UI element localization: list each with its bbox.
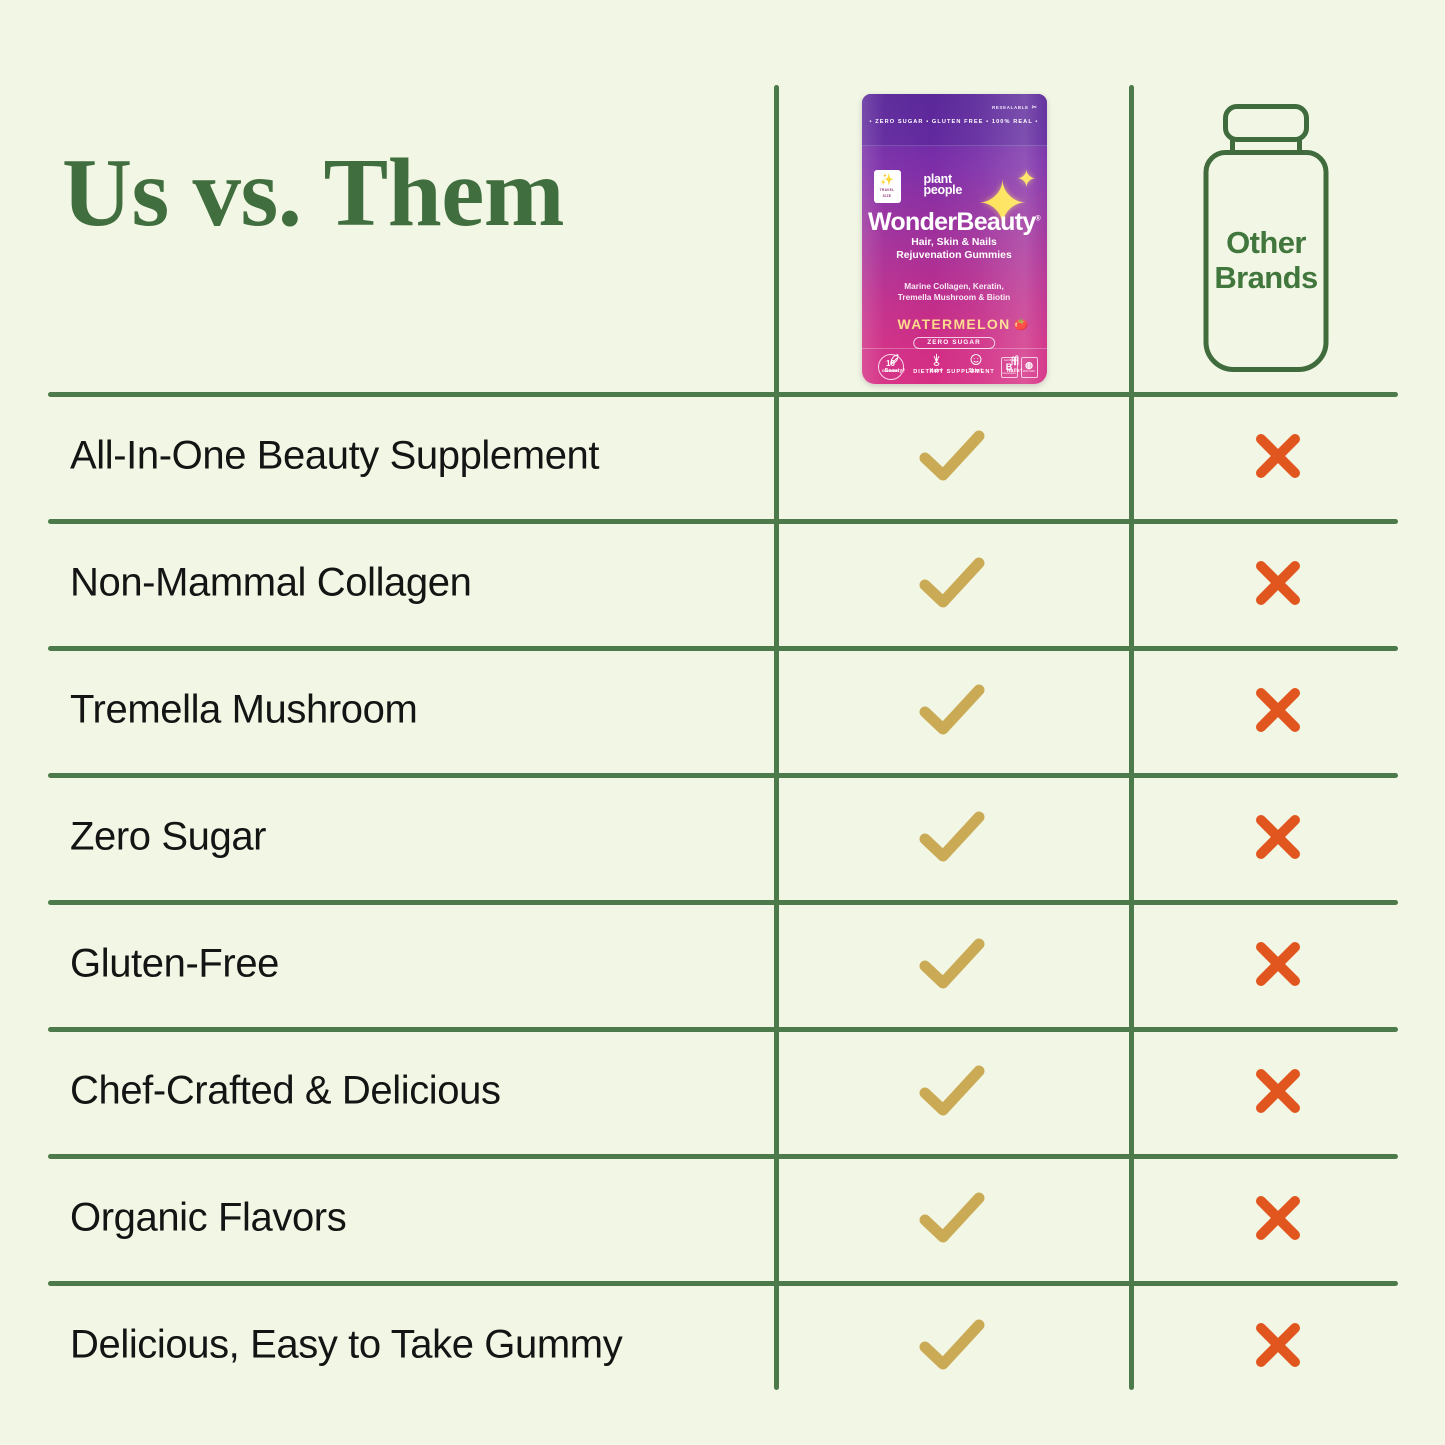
travel-size-line2: SIZE: [883, 194, 892, 198]
travel-size-icon: ✨: [882, 174, 893, 187]
feature-label: Organic Flavors: [70, 1195, 760, 1240]
check-icon: [917, 554, 987, 612]
row-divider: [48, 900, 1398, 905]
bcorp-bottom-text: Corporation: [1002, 372, 1016, 375]
cross-icon: [1252, 557, 1304, 609]
pouch-claims: • ZERO SUGAR • GLUTEN FREE • 100% REAL •: [862, 119, 1047, 125]
row-divider: [48, 1281, 1398, 1286]
feature-label: Gluten-Free: [70, 941, 760, 986]
feature-label: Zero Sugar: [70, 814, 760, 859]
cross-icon: [1252, 1192, 1304, 1244]
gummy-count-number: 10: [886, 360, 895, 369]
wonderbeauty-pouch: RESEALABLE ✂ • ZERO SUGAR • GLUTEN FREE …: [862, 94, 1047, 384]
feature-label: All-In-One Beauty Supplement: [70, 433, 760, 478]
certification-badges: Certified B Corporation ◍ NON GMO: [1001, 357, 1038, 378]
row-divider: [48, 1027, 1398, 1032]
check-icon: [917, 427, 987, 485]
cross-icon: [1252, 1065, 1304, 1117]
check-icon: [917, 1062, 987, 1120]
watermelon-slice-icon: 🍅: [1014, 318, 1029, 330]
bottle-body: Other Brands: [1204, 150, 1329, 372]
feature-label: Non-Mammal Collagen: [70, 560, 760, 605]
row-divider: [48, 392, 1398, 397]
row-divider: [48, 646, 1398, 651]
page-title: Us vs. Them: [62, 142, 564, 244]
product-name: WonderBeauty®: [862, 208, 1047, 237]
resealable-badge: RESEALABLE ✂: [992, 105, 1038, 111]
other-brands-line-1: Other: [1214, 226, 1317, 261]
gummy-count-badge: 10 Gummies: [878, 354, 904, 380]
comparison-chart: Us vs. Them RESEALABLE ✂ • ZERO SUGAR • …: [0, 0, 1445, 1445]
travel-size-line1: TRAVEL: [879, 188, 894, 192]
brand-line-2: people: [924, 185, 962, 197]
check-icon: [917, 808, 987, 866]
other-brands-label: Other Brands: [1214, 226, 1317, 295]
row-divider: [48, 519, 1398, 524]
ingredients-line-1: Marine Collagen, Keratin,: [862, 281, 1047, 292]
non-gmo-icon: ◍ NON GMO: [1021, 357, 1038, 378]
subtitle-line-1: Hair, Skin & Nails: [862, 236, 1047, 250]
check-icon: [917, 1316, 987, 1374]
other-brands-bottle-icon: Other Brands: [1196, 104, 1336, 374]
cross-icon: [1252, 430, 1304, 482]
them-column-header: Other Brands: [1134, 85, 1398, 392]
subtitle-line-2: Rejuvenation Gummies: [862, 249, 1047, 263]
sparkle-small-icon: ✦: [1016, 168, 1036, 192]
cross-icon: [1252, 811, 1304, 863]
cross-icon: [1252, 684, 1304, 736]
scissors-icon: ✂: [1032, 105, 1038, 111]
resealable-label: RESEALABLE: [992, 105, 1029, 110]
travel-size-badge: ✨ TRAVEL SIZE: [874, 170, 901, 203]
other-brands-line-2: Brands: [1214, 261, 1317, 296]
product-name-text: WonderBeauty: [868, 208, 1036, 236]
bottle-cap: [1223, 104, 1309, 142]
feature-label: Delicious, Easy to Take Gummy: [70, 1322, 760, 1367]
row-divider: [48, 773, 1398, 778]
cross-icon: [1252, 938, 1304, 990]
feature-label: Chef-Crafted & Delicious: [70, 1068, 760, 1113]
check-icon: [917, 681, 987, 739]
plant-people-logo: plant people: [924, 174, 962, 198]
non-gmo-text: NON GMO: [1023, 370, 1035, 373]
bcorp-icon: Certified B Corporation: [1001, 357, 1018, 378]
row-divider: [48, 1154, 1398, 1159]
trademark-symbol: ®: [1036, 215, 1040, 222]
ingredients-line-2: Tremella Mushroom & Biotin: [862, 292, 1047, 303]
non-gmo-glyph: ◍: [1025, 361, 1033, 370]
cross-icon: [1252, 1319, 1304, 1371]
product-ingredients: Marine Collagen, Keratin, Tremella Mushr…: [862, 281, 1047, 304]
bcorp-letter: B: [1006, 363, 1013, 372]
check-icon: [917, 1189, 987, 1247]
check-icon: [917, 935, 987, 993]
us-column-header: RESEALABLE ✂ • ZERO SUGAR • GLUTEN FREE …: [779, 85, 1129, 392]
feature-label: Tremella Mushroom: [70, 687, 760, 732]
product-subtitle: Hair, Skin & Nails Rejuvenation Gummies: [862, 236, 1047, 263]
